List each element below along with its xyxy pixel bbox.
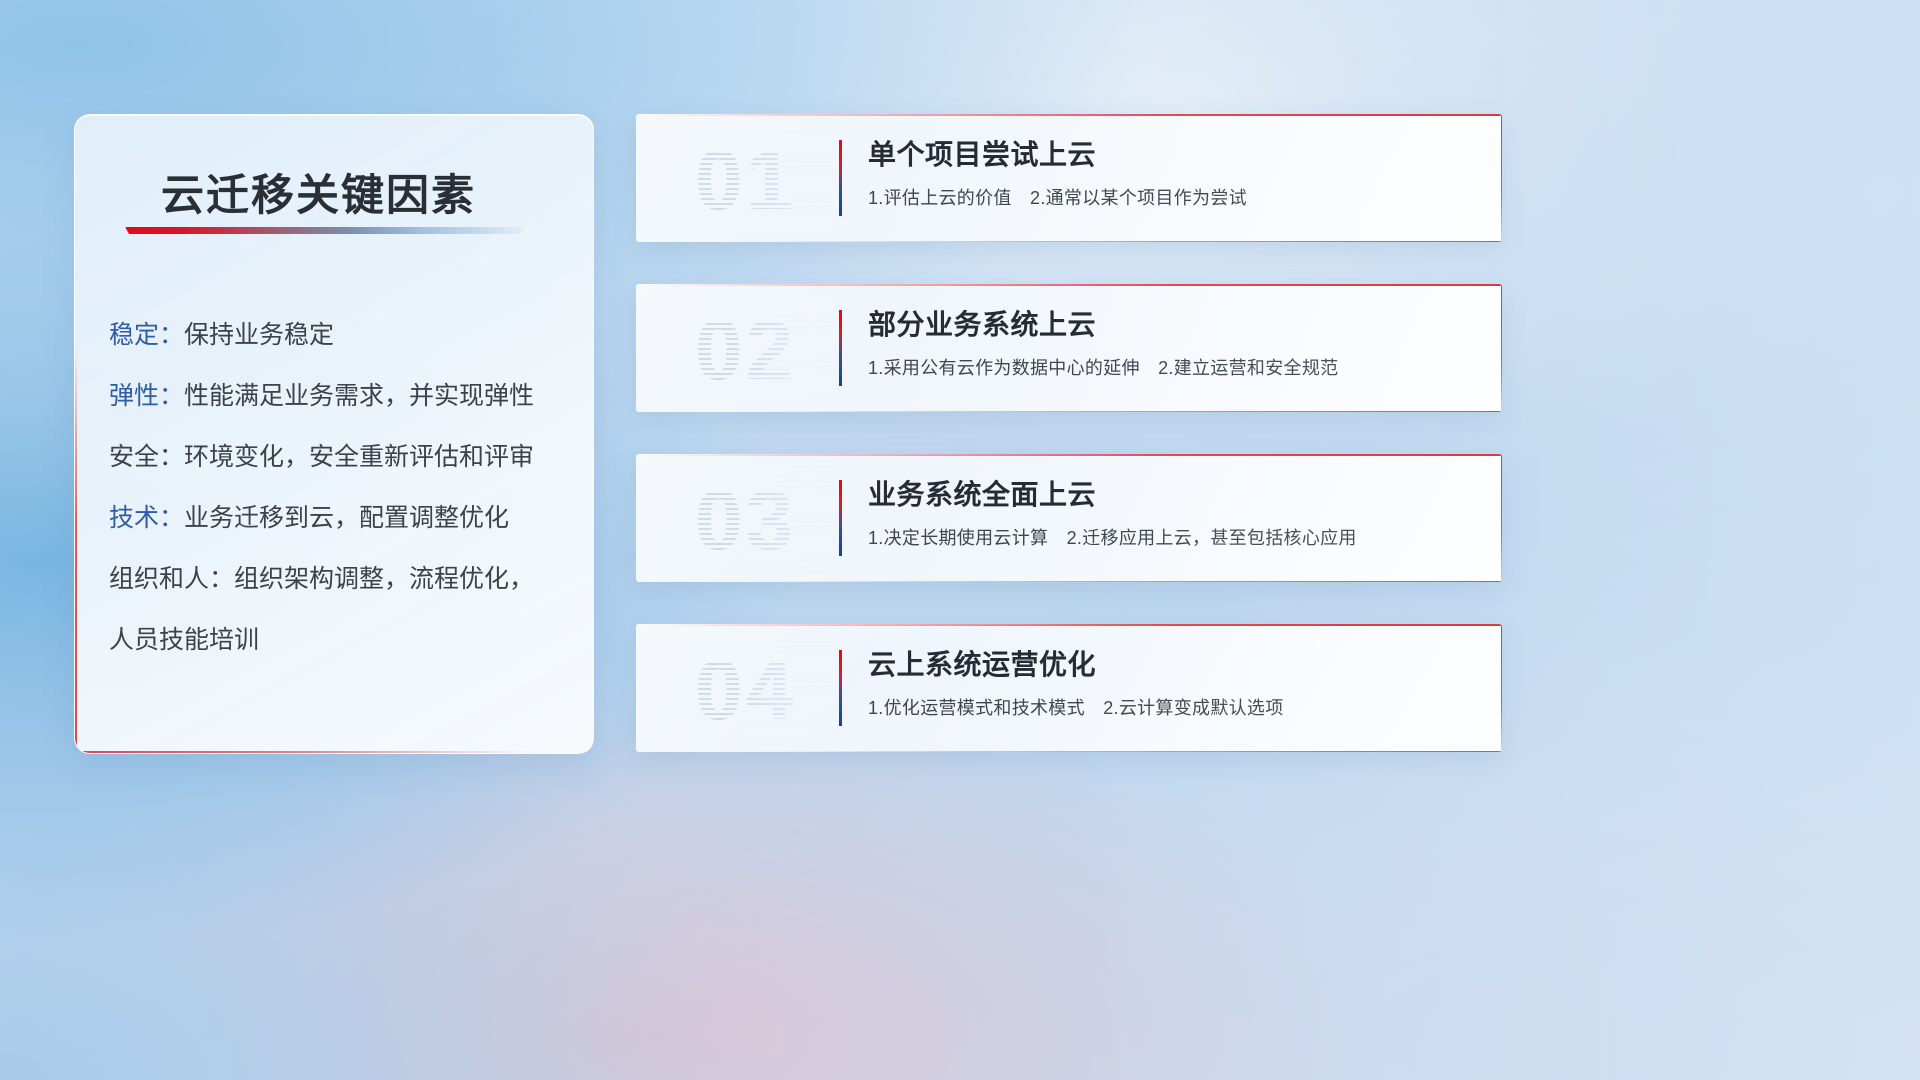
list-item-label: 稳定： <box>109 321 184 349</box>
card-text-block: 单个项目尝试上云 1.评估上云的价值 2.通常以某个项目作为尝试 <box>868 134 1478 212</box>
card-right-accent-border <box>1501 624 1503 752</box>
migration-stage-cards: 01 单个项目尝试上云 1.评估上云的价值 2.通常以某个项目作为尝试 02 部… <box>636 114 1502 794</box>
card-top-accent-border <box>636 454 1502 456</box>
card-title: 部分业务系统上云 <box>868 304 1478 346</box>
card-right-accent-border <box>1501 284 1503 412</box>
card-subtitle: 1.决定长期使用云计算 2.迁移应用上云，甚至包括核心应用 <box>868 524 1478 552</box>
card-divider-bar <box>839 650 842 726</box>
slide-canvas: 云迁移关键因素 稳定：保持业务稳定 弹性：性能满足业务需求，并实现弹性 安全：环… <box>0 0 1920 1080</box>
list-item-label: 技术： <box>109 504 184 532</box>
card-subtitle: 1.评估上云的价值 2.通常以某个项目作为尝试 <box>868 184 1478 212</box>
card-step-number: 02 <box>660 298 832 402</box>
card-right-accent-border <box>1501 454 1503 582</box>
list-item-label: 组织和人： <box>109 565 234 593</box>
stage-card-03[interactable]: 03 业务系统全面上云 1.决定长期使用云计算 2.迁移应用上云，甚至包括核心应… <box>636 454 1502 582</box>
stage-card-04[interactable]: 04 云上系统运营优化 1.优化运营模式和技术模式 2.云计算变成默认选项 <box>636 624 1502 752</box>
card-title: 业务系统全面上云 <box>868 474 1478 516</box>
list-item-text: 人员技能培训 <box>109 626 259 654</box>
card-step-number: 04 <box>660 638 832 742</box>
list-item-text: 环境变化，安全重新评估和评审 <box>184 443 534 471</box>
list-item: 技术：业务迁移到云，配置调整优化 <box>109 488 567 549</box>
list-item-text: 保持业务稳定 <box>184 321 334 349</box>
card-right-accent-border <box>1501 114 1503 242</box>
list-item: 组织和人：组织架构调整，流程优化， <box>109 549 567 610</box>
panel-left-accent-edge <box>75 345 77 753</box>
panel-title-underline <box>125 227 525 234</box>
list-item-text: 性能满足业务需求，并实现弹性 <box>184 382 534 410</box>
card-divider-bar <box>839 140 842 216</box>
list-item-text: 业务迁移到云，配置调整优化 <box>184 504 509 532</box>
card-top-accent-border <box>636 284 1502 286</box>
card-bottom-accent-border <box>757 581 1502 583</box>
list-item-text: 组织架构调整，流程优化， <box>234 565 534 593</box>
card-step-number: 01 <box>660 128 832 232</box>
card-top-accent-border <box>636 114 1502 116</box>
card-bottom-accent-border <box>757 241 1502 243</box>
list-item-continuation: 人员技能培训 <box>109 610 567 671</box>
card-bottom-accent-border <box>757 411 1502 413</box>
card-top-accent-border <box>636 624 1502 626</box>
card-title: 云上系统运营优化 <box>868 644 1478 686</box>
panel-title: 云迁移关键因素 <box>161 161 476 223</box>
stage-card-01[interactable]: 01 单个项目尝试上云 1.评估上云的价值 2.通常以某个项目作为尝试 <box>636 114 1502 242</box>
key-factors-list: 稳定：保持业务稳定 弹性：性能满足业务需求，并实现弹性 安全：环境变化，安全重新… <box>109 305 567 671</box>
card-bottom-accent-border <box>757 751 1502 753</box>
card-title: 单个项目尝试上云 <box>868 134 1478 176</box>
card-subtitle: 1.采用公有云作为数据中心的延伸 2.建立运营和安全规范 <box>868 354 1478 382</box>
key-factors-panel: 云迁移关键因素 稳定：保持业务稳定 弹性：性能满足业务需求，并实现弹性 安全：环… <box>74 114 594 754</box>
list-item: 弹性：性能满足业务需求，并实现弹性 <box>109 366 567 427</box>
panel-bottom-accent-edge <box>75 751 593 753</box>
list-item-label: 弹性： <box>109 382 184 410</box>
list-item: 稳定：保持业务稳定 <box>109 305 567 366</box>
card-step-number: 03 <box>660 468 832 572</box>
card-text-block: 云上系统运营优化 1.优化运营模式和技术模式 2.云计算变成默认选项 <box>868 644 1478 722</box>
card-subtitle: 1.优化运营模式和技术模式 2.云计算变成默认选项 <box>868 694 1478 722</box>
stage-card-02[interactable]: 02 部分业务系统上云 1.采用公有云作为数据中心的延伸 2.建立运营和安全规范 <box>636 284 1502 412</box>
list-item: 安全：环境变化，安全重新评估和评审 <box>109 427 567 488</box>
card-text-block: 业务系统全面上云 1.决定长期使用云计算 2.迁移应用上云，甚至包括核心应用 <box>868 474 1478 552</box>
card-text-block: 部分业务系统上云 1.采用公有云作为数据中心的延伸 2.建立运营和安全规范 <box>868 304 1478 382</box>
card-divider-bar <box>839 310 842 386</box>
card-divider-bar <box>839 480 842 556</box>
list-item-label: 安全： <box>109 443 184 471</box>
